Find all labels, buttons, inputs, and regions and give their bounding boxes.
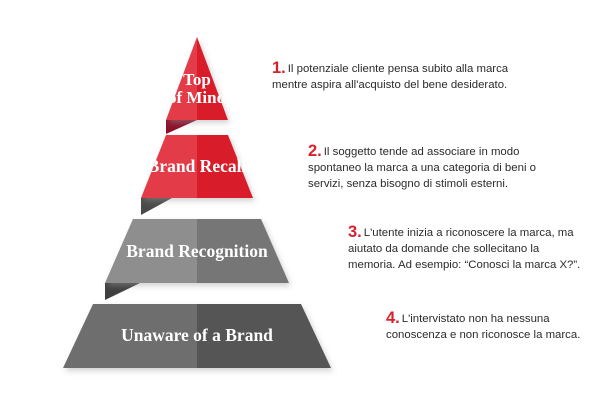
tier-label-brand-recall: Brand Recall: [148, 156, 247, 176]
note-number-1: 1.: [272, 59, 286, 77]
note-number-2: 2.: [308, 142, 322, 160]
note-number-4: 4.: [386, 309, 400, 327]
note-item-3: 3.L'utente inizia a riconoscere la marca…: [348, 224, 586, 274]
note-item-1: 1.Il potenziale cliente pensa subito all…: [272, 60, 512, 93]
note-number-3: 3.: [348, 223, 362, 241]
infographic-canvas: Unaware of a Brand Brand Recognition Bra…: [0, 0, 600, 400]
note-text-4: L'intervistato non ha nessuna conoscenza…: [386, 313, 580, 341]
note-item-2: 2.Il soggetto tende ad associare in modo…: [308, 143, 548, 193]
note-text-2: Il soggetto tende ad associare in modo s…: [308, 146, 536, 190]
tier-label-top-of-mind-line1: Top: [183, 70, 211, 89]
tier-recognition-shadow-tab: [105, 283, 140, 300]
tier-label-brand-recognition: Brand Recognition: [126, 241, 268, 261]
tier-recall-shadow-tab: [141, 198, 172, 215]
note-text-1: Il potenziale cliente pensa subito alla …: [272, 63, 508, 91]
note-text-3: L'utente inizia a riconoscere la marca, …: [348, 227, 580, 271]
tier-label-unaware-of-a-brand: Unaware of a Brand: [121, 325, 273, 345]
note-item-4: 4.L'intervistato non ha nessuna conoscen…: [386, 310, 586, 343]
tier-top-of-mind-shadow-tab: [166, 120, 197, 134]
tier-label-top-of-mind-line2: of Mind: [168, 88, 227, 107]
